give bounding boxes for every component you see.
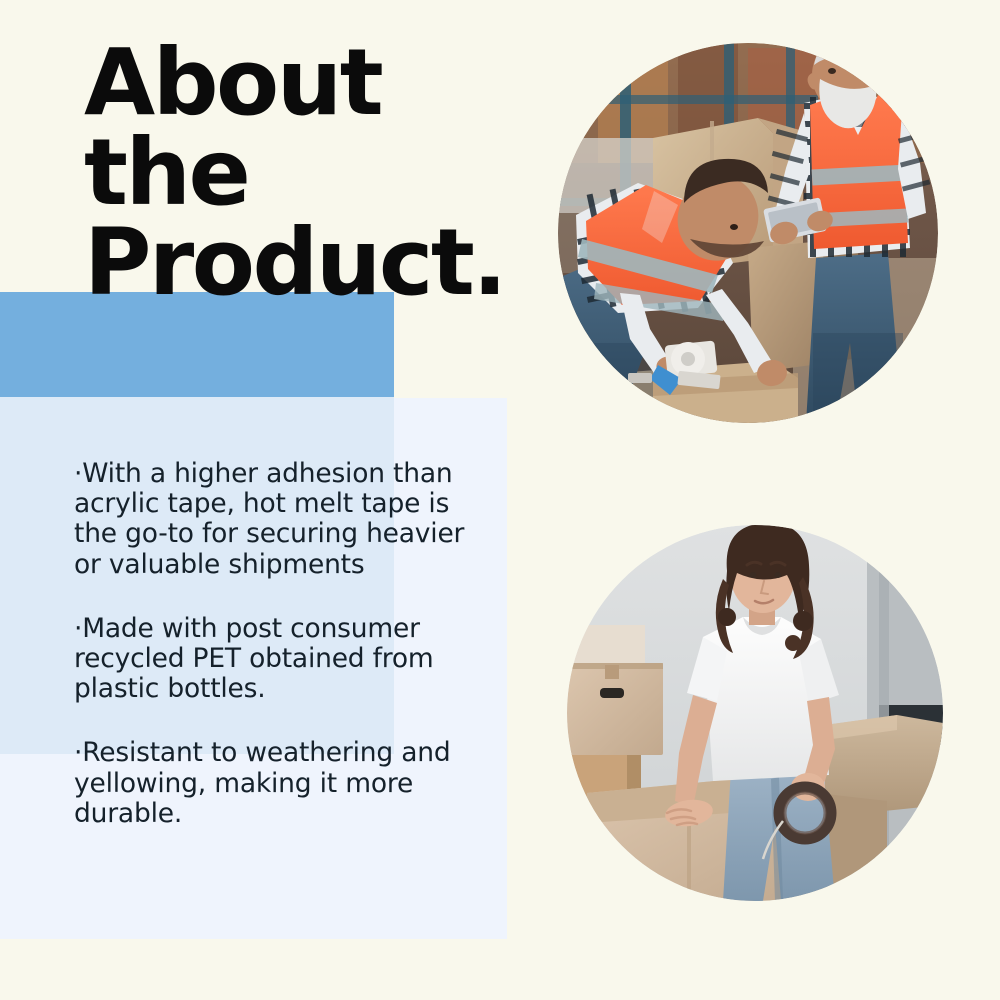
about-the-product-slide: About the Product. ·With a higher adhesi… [0, 0, 1000, 1000]
woman-packing-box-photo [567, 525, 943, 901]
warehouse-workers-photo [558, 43, 938, 423]
bullet-marker-2: · [74, 613, 82, 644]
bullet-text-3: Resistant to weathering and yellowing, m… [74, 737, 450, 828]
woman-packing-illustration [567, 525, 943, 901]
bullet-text-1: With a higher adhesion than acrylic tape… [74, 458, 464, 580]
bullet-marker-3: · [74, 737, 82, 768]
bullet-item-2: ·Made with post consumer recycled PET ob… [74, 614, 494, 705]
bullet-item-1: ·With a higher adhesion than acrylic tap… [74, 459, 494, 580]
page-title: About the Product. [84, 38, 554, 308]
warehouse-workers-illustration [558, 43, 938, 423]
bullet-marker-1: · [74, 458, 82, 489]
bullet-item-3: ·Resistant to weathering and yellowing, … [74, 738, 494, 829]
bullet-text-2: Made with post consumer recycled PET obt… [74, 613, 434, 704]
bullet-list: ·With a higher adhesion than acrylic tap… [74, 459, 494, 829]
